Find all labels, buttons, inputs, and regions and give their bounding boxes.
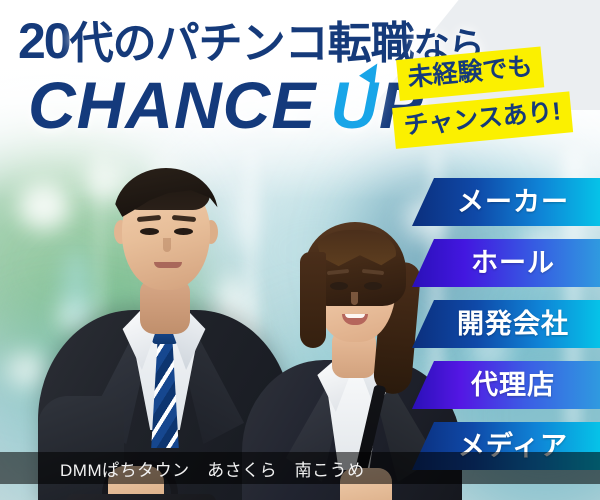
badge-line-1: 未経験でも: [396, 46, 544, 100]
category-label-maker: メーカー: [443, 189, 569, 216]
logo-word-chance: CHANCE: [28, 68, 316, 142]
logo-letter-u-arrow-icon: U: [330, 72, 379, 138]
category-label-developer: 開発会社: [443, 311, 569, 338]
man-nose: [163, 238, 171, 252]
headline-body: 代のパチンコ転職: [70, 19, 414, 68]
yellow-highlight-badge: 未経験でも チャンスあり!: [394, 54, 596, 162]
man-mouth: [154, 262, 182, 268]
woman-nose: [351, 292, 358, 305]
caption-text: DMMぱちタウン あさくら 南こうめ: [0, 456, 365, 481]
woman-hair-side: [300, 252, 326, 348]
category-label-agency: 代理店: [457, 372, 555, 399]
man-briefcase: [66, 494, 216, 500]
category-button-agency[interactable]: 代理店: [412, 361, 600, 409]
category-label-hall: ホール: [457, 250, 555, 277]
woman-teeth: [345, 314, 365, 318]
chance-up-banner: 20代のパチンコ転職なら CHANCEUP 未経験でも チャンスあり! メーカー…: [0, 0, 600, 500]
category-button-maker[interactable]: メーカー: [412, 178, 600, 226]
category-button-hall[interactable]: ホール: [412, 239, 600, 287]
category-button-developer[interactable]: 開発会社: [412, 300, 600, 348]
badge-line-2: チャンスあり!: [392, 91, 573, 149]
woman-eye-left: [330, 282, 348, 290]
bottom-caption-bar: DMMぱちタウン あさくら 南こうめ: [0, 452, 600, 484]
chance-up-logo: CHANCEUP: [28, 72, 424, 138]
headline-number: 20: [18, 13, 70, 69]
man-eye-right: [174, 228, 193, 235]
category-button-list: メーカー ホール 開発会社 代理店 メディア: [412, 178, 600, 470]
woman-eye-right: [364, 282, 382, 290]
man-eye-left: [140, 228, 159, 235]
